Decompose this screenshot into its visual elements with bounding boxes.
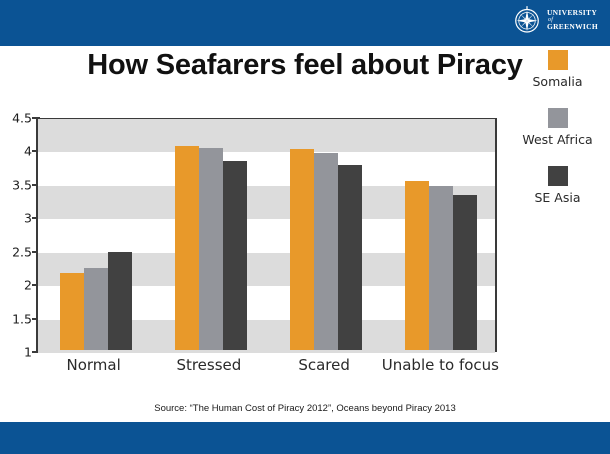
footer-bar bbox=[0, 422, 610, 454]
y-axis-tick-label: 4 bbox=[24, 144, 32, 159]
logo-line-university: UNIVERSITY bbox=[547, 9, 598, 17]
bar-somalia[interactable] bbox=[175, 146, 199, 350]
bar-west-africa[interactable] bbox=[199, 148, 223, 350]
chart-legend: SomaliaWest AfricaSE Asia bbox=[505, 50, 610, 224]
y-axis-tick-label: 4.5 bbox=[12, 111, 32, 126]
legend-item[interactable]: West Africa bbox=[505, 108, 610, 147]
legend-item[interactable]: Somalia bbox=[505, 50, 610, 89]
compass-rose-icon bbox=[512, 5, 542, 35]
x-axis-category-label: Normal bbox=[36, 356, 151, 374]
legend-swatch-icon bbox=[548, 166, 568, 186]
bar-se-asia[interactable] bbox=[453, 195, 477, 350]
legend-swatch-icon bbox=[548, 50, 568, 70]
bar-se-asia[interactable] bbox=[108, 252, 132, 350]
bar-somalia[interactable] bbox=[60, 273, 84, 350]
bar-groups bbox=[38, 119, 495, 350]
bar-west-africa[interactable] bbox=[429, 186, 453, 350]
x-axis-labels: NormalStressedScaredUnable to focus bbox=[36, 356, 497, 382]
header-bar: UNIVERSITY of GREENWICH bbox=[0, 0, 610, 46]
x-axis-category-label: Scared bbox=[267, 356, 382, 374]
y-axis-tick-label: 3 bbox=[24, 211, 32, 226]
bar-group bbox=[269, 119, 384, 350]
y-axis-tick-label: 1 bbox=[24, 345, 32, 360]
y-axis-tick-label: 2 bbox=[24, 278, 32, 293]
bar-west-africa[interactable] bbox=[314, 153, 338, 350]
logo-line-greenwich: GREENWICH bbox=[547, 23, 598, 31]
bar-west-africa[interactable] bbox=[84, 268, 108, 350]
x-axis-category-label: Stressed bbox=[151, 356, 266, 374]
bar-group bbox=[384, 119, 499, 350]
legend-item[interactable]: SE Asia bbox=[505, 166, 610, 205]
legend-label: Somalia bbox=[505, 74, 610, 89]
bar-group bbox=[38, 119, 153, 350]
y-axis: 11.522.533.544.5 bbox=[0, 118, 40, 352]
y-axis-tick-label: 3.5 bbox=[12, 177, 32, 192]
plot-area bbox=[36, 118, 497, 352]
source-note: Source: “The Human Cost of Piracy 2012”,… bbox=[0, 403, 610, 414]
university-logo: UNIVERSITY of GREENWICH bbox=[512, 5, 598, 35]
bar-se-asia[interactable] bbox=[223, 161, 247, 350]
legend-label: SE Asia bbox=[505, 190, 610, 205]
logo-wordmark: UNIVERSITY of GREENWICH bbox=[547, 9, 598, 30]
y-axis-tick-label: 2.5 bbox=[12, 244, 32, 259]
legend-swatch-icon bbox=[548, 108, 568, 128]
y-axis-tick-label: 1.5 bbox=[12, 311, 32, 326]
x-axis-category-label: Unable to focus bbox=[382, 356, 497, 374]
legend-label: West Africa bbox=[505, 132, 610, 147]
bar-somalia[interactable] bbox=[405, 181, 429, 350]
bar-somalia[interactable] bbox=[290, 149, 314, 350]
bar-se-asia[interactable] bbox=[338, 165, 362, 350]
bar-group bbox=[153, 119, 268, 350]
